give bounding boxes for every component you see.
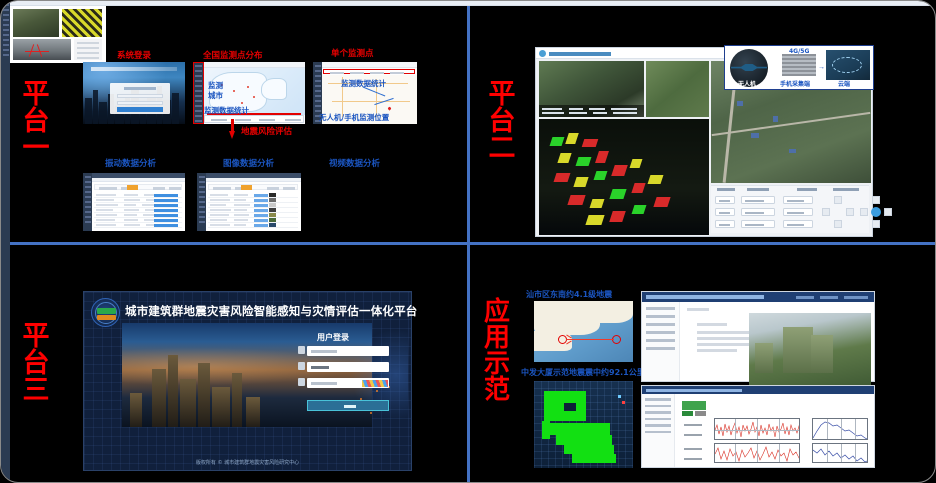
toolbar — [322, 62, 417, 68]
sidebar[interactable] — [1, 1, 10, 482]
spectrum-plot-x — [812, 418, 868, 440]
screenshot-epicenter-map[interactable] — [534, 301, 633, 362]
app-header — [642, 292, 874, 302]
screenshot-demo-project-page[interactable] — [641, 291, 875, 382]
caption-distance-to-epicenter: 中发大厦示范地震震中约92.1公里 — [521, 367, 645, 378]
table-row[interactable] — [94, 213, 182, 218]
screenshot-monitoring-waveform-page[interactable] — [641, 385, 875, 468]
filter-bar[interactable] — [94, 184, 182, 190]
terminal-device-photo — [782, 54, 816, 76]
tertiary-action-button[interactable] — [695, 411, 706, 416]
label-4g-5g: 4G/5G — [789, 48, 809, 55]
landmass — [261, 78, 287, 100]
control-button[interactable] — [741, 196, 775, 204]
breadcrumb-bar — [206, 178, 301, 182]
table-row[interactable] — [208, 193, 298, 198]
filter-bar[interactable] — [208, 184, 298, 190]
sidebar-nav[interactable] — [642, 302, 680, 381]
lock-icon — [298, 362, 305, 370]
table-row[interactable] — [208, 208, 298, 213]
primary-action-button[interactable] — [682, 401, 706, 410]
location-pin[interactable] — [387, 106, 391, 110]
login-card[interactable] — [110, 83, 170, 114]
username-field[interactable] — [117, 94, 163, 98]
building — [172, 93, 179, 124]
dpad-right[interactable] — [859, 195, 893, 229]
telemetry-strip — [539, 105, 644, 117]
table-row[interactable] — [94, 218, 182, 223]
user-icon — [298, 346, 305, 354]
app-logo-icon — [539, 50, 546, 57]
building — [93, 90, 98, 124]
dpad-left[interactable] — [821, 195, 855, 229]
down-arrow-icon — [229, 119, 235, 139]
table-row[interactable] — [208, 203, 298, 208]
screenshot-system-login[interactable] — [83, 62, 185, 124]
overlay-monitoring-data-stats: 监测数据统计 — [204, 105, 249, 116]
arrow-right-icon: → — [818, 64, 825, 71]
control-button[interactable] — [783, 208, 813, 216]
annotation-box-sidebar — [193, 62, 204, 124]
login-heading: 用户登录 — [317, 332, 349, 343]
control-button[interactable] — [715, 208, 735, 216]
table-row[interactable] — [94, 203, 182, 208]
table-row[interactable] — [94, 193, 182, 198]
stats-bar[interactable] — [204, 115, 304, 123]
caption-earthquake-event: 汕市区东南约4.1级地震 — [526, 289, 612, 300]
label-uav: 无人机 — [738, 79, 756, 88]
landmass — [590, 301, 633, 323]
login-submit-button[interactable] — [117, 107, 163, 112]
table-row[interactable] — [208, 213, 298, 218]
distance-line — [566, 339, 614, 340]
monitor-point[interactable] — [233, 90, 235, 92]
secondary-action-button[interactable] — [682, 411, 693, 416]
label-cloud: 云端 — [838, 79, 850, 88]
caption-system-login: 系统登录 — [117, 49, 151, 61]
demo-building-photo — [749, 313, 871, 387]
control-button[interactable] — [783, 220, 813, 228]
field-video-feed[interactable] — [646, 61, 709, 117]
login-header-title — [91, 67, 177, 71]
login-panel[interactable]: 用户登录 — [297, 328, 389, 421]
control-button[interactable] — [741, 208, 775, 216]
analysis-results-panel — [74, 39, 102, 60]
app-title — [646, 295, 764, 299]
acceleration-plot-y — [714, 443, 800, 463]
video-frame-aerial[interactable] — [13, 9, 59, 37]
screenshot-building-fem-model[interactable] — [534, 381, 633, 468]
table-row[interactable] — [208, 198, 298, 203]
cloud-photo — [826, 50, 870, 80]
label-mobile-terminal: 手机采集端 — [780, 79, 810, 88]
uav-architecture-inset: 无人机 4G/5G 手机采集端 → 云端 — [724, 45, 874, 90]
platform-title: 城市建筑群地震灾害风险智能感知与灾情评估一体化平台 — [125, 303, 418, 319]
sidebar[interactable] — [197, 173, 206, 231]
quadrant-label-application-demo: 应用示范 — [481, 297, 506, 401]
drone-icon — [731, 64, 767, 71]
table-row[interactable] — [94, 208, 182, 213]
video-frame-segmented[interactable] — [62, 9, 102, 37]
aerial-video-feed[interactable] — [539, 61, 644, 117]
table-row[interactable] — [94, 223, 182, 228]
app-header — [642, 386, 874, 394]
caption-image-data-analysis: 图像数据分析 — [223, 157, 274, 169]
video-frame-street[interactable] — [13, 39, 71, 60]
active-filter-chip[interactable] — [241, 185, 252, 190]
quadrant-label-platform-1: 平台一 — [19, 79, 45, 160]
quadrant-label-platform-3: 平台三 — [19, 321, 45, 402]
caption-vibration-data-analysis: 振动数据分析 — [105, 157, 156, 169]
control-button[interactable] — [783, 196, 813, 204]
login-submit-button[interactable] — [307, 400, 389, 411]
control-button[interactable] — [715, 220, 735, 228]
password-input[interactable] — [307, 362, 389, 372]
overlay-monitoring-data-stats-2: 监测数据统计 — [341, 78, 386, 89]
caption-single-monitoring-point: 单个监测点 — [331, 47, 374, 59]
control-panel[interactable] — [711, 185, 869, 233]
app-title — [646, 389, 742, 393]
screenshot-integrated-platform-login[interactable]: 城市建筑群地震灾害风险智能感知与灾情评估一体化平台 用户登录 — [83, 291, 412, 471]
breadcrumb-bar — [92, 178, 185, 182]
table-row[interactable] — [94, 198, 182, 203]
quadrant-label-platform-2: 平台二 — [485, 79, 511, 160]
control-button[interactable] — [741, 220, 775, 228]
active-filter-chip[interactable] — [127, 185, 138, 190]
horizontal-divider — [3, 242, 935, 245]
platform-logo-badge — [91, 298, 120, 327]
road — [332, 101, 410, 102]
shield-icon — [298, 378, 305, 386]
password-field[interactable] — [117, 101, 163, 105]
monitor-point[interactable] — [253, 96, 255, 98]
figure-root: 平台一 平台二 平台三 应用示范 系统登录 全国监测点分布 单个监测点 — [0, 0, 936, 483]
header-bar — [10, 1, 935, 6]
username-input[interactable] — [307, 346, 389, 356]
acceleration-plot-x — [714, 418, 800, 440]
control-button[interactable] — [715, 196, 735, 204]
caption-national-monitoring-distribution: 全国监测点分布 — [203, 49, 263, 61]
content-area — [681, 303, 874, 381]
overlay-uav-phone-position: 无人机/手机监测位置 — [319, 112, 389, 123]
building — [85, 98, 92, 124]
captcha-image[interactable] — [362, 380, 388, 387]
monitor-point[interactable] — [241, 102, 243, 104]
sidebar-nav[interactable] — [642, 394, 675, 467]
caption-seismic-risk-assessment: 地震风险评估 — [241, 125, 292, 137]
table-row[interactable] — [208, 218, 298, 223]
sidebar[interactable] — [83, 173, 92, 231]
caption-video-data-analysis: 视频数据分析 — [329, 157, 380, 169]
overlay-monitoring-city-line2: 城市 — [208, 90, 223, 101]
table-row[interactable] — [208, 223, 298, 228]
spectrum-plot-y — [812, 443, 868, 463]
screenshot-image-data-table[interactable] — [197, 173, 301, 231]
footer-copyright: 版权所有 © 城市建筑群地震灾害风险研究中心 — [84, 459, 411, 466]
building — [99, 102, 107, 124]
login-card-title — [124, 87, 156, 90]
screenshot-video-data-analysis[interactable] — [1, 1, 106, 63]
tab-bar[interactable] — [323, 69, 415, 74]
captcha-input[interactable] — [307, 378, 389, 388]
monitor-point[interactable] — [247, 86, 249, 88]
app-title — [549, 52, 611, 56]
3d-damage-model[interactable] — [539, 119, 709, 235]
screenshot-vibration-data-table[interactable] — [83, 173, 185, 231]
